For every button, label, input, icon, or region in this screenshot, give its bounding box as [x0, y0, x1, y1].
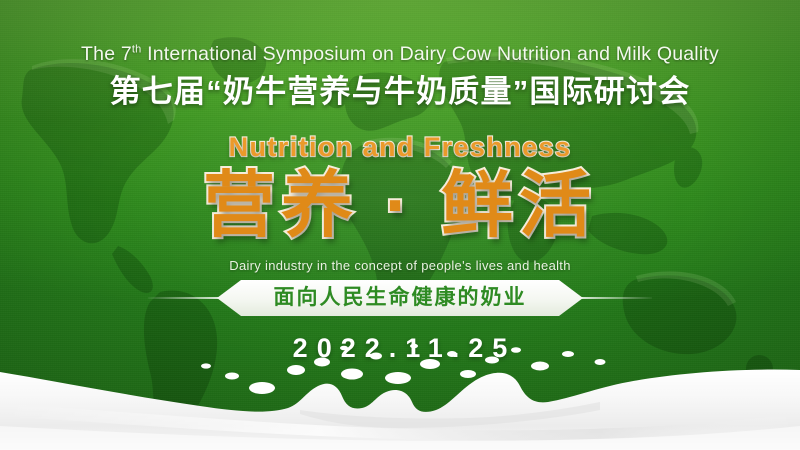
english-slogan: Nutrition and Freshness: [0, 132, 800, 163]
ribbon-banner: 面向人民生命健康的奶业: [0, 280, 800, 316]
chinese-subtitle: 面向人民生命健康的奶业: [217, 280, 583, 316]
english-title-suffix: International Symposium on Dairy Cow Nut…: [142, 43, 719, 65]
ribbon-line-left: [148, 297, 220, 299]
milk-splash-graphic: [0, 340, 800, 450]
ribbon-shape: 面向人民生命健康的奶业: [217, 280, 583, 316]
conference-poster: The 7th International Symposium on Dairy…: [0, 0, 800, 450]
ribbon-line-right: [580, 297, 652, 299]
english-title-prefix: The 7: [81, 43, 132, 65]
milk-droplets: [201, 344, 606, 394]
english-conference-title: The 7th International Symposium on Dairy…: [0, 43, 800, 66]
chinese-conference-title: 第七届“奶牛营养与牛奶质量”国际研讨会: [0, 66, 800, 111]
english-subtitle: Dairy industry in the concept of people'…: [0, 258, 800, 273]
ordinal-suffix: th: [132, 44, 142, 56]
chinese-slogan: 营养 · 鲜活: [0, 164, 800, 248]
